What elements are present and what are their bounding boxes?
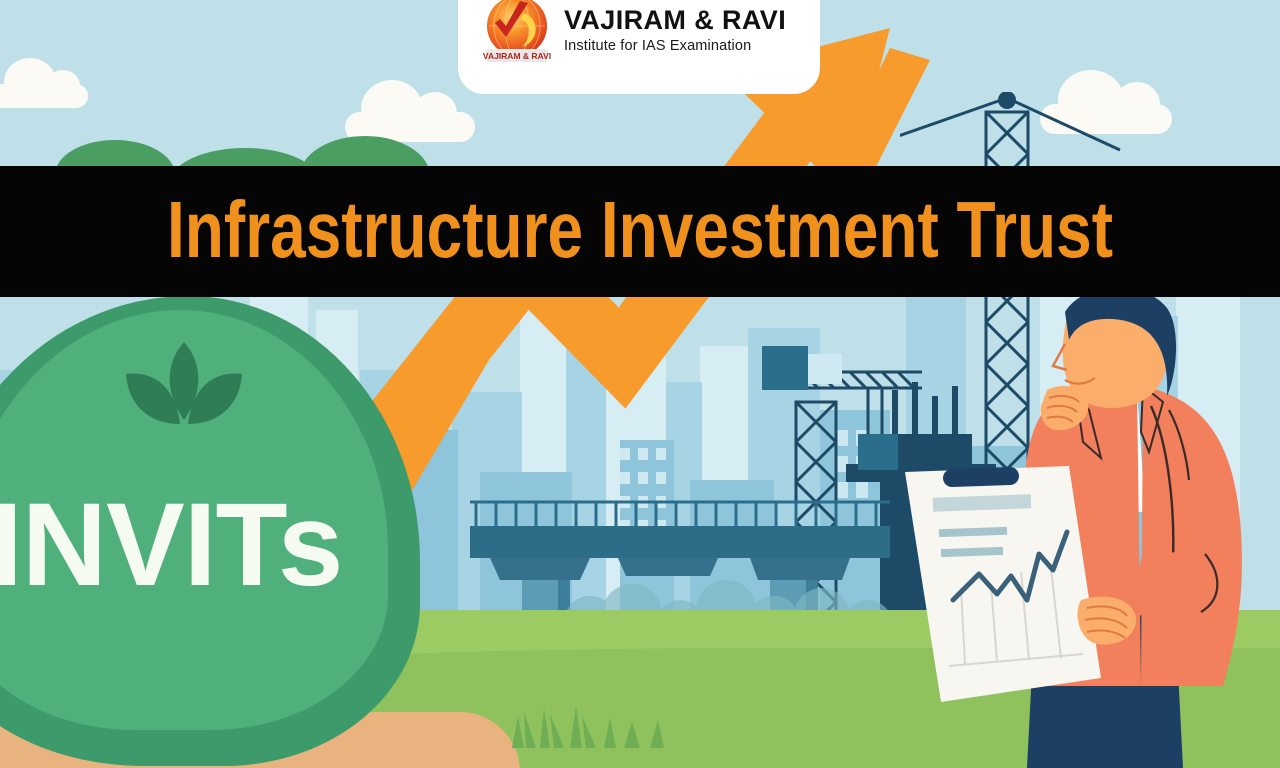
svg-text:VAJIRAM & RAVI: VAJIRAM & RAVI [483, 51, 551, 61]
title-banner: Infrastructure Investment Trust [0, 166, 1280, 297]
grass-tufts-icon [500, 700, 700, 748]
clipboard-line-chart-icon [905, 466, 1101, 702]
page-title: Infrastructure Investment Trust [128, 190, 1152, 274]
brand-logo-badge[interactable]: VAJIRAM & RAVI VAJIRAM & RAVI Institute … [458, 0, 820, 94]
money-bag-label: INVITs [0, 486, 410, 604]
three-leaf-plant-icon [118, 338, 250, 452]
cloud-left-icon [0, 84, 88, 108]
vajiram-ravi-globe-checkmark-icon: VAJIRAM & RAVI [480, 0, 554, 67]
brand-tagline: Institute for IAS Examination [564, 38, 786, 54]
brand-name: VAJIRAM & RAVI [564, 6, 786, 34]
businessman-with-clipboard-icon [905, 282, 1280, 768]
brand-logo-text: VAJIRAM & RAVI Institute for IAS Examina… [564, 6, 786, 53]
poster-canvas: INVITs [0, 0, 1280, 768]
